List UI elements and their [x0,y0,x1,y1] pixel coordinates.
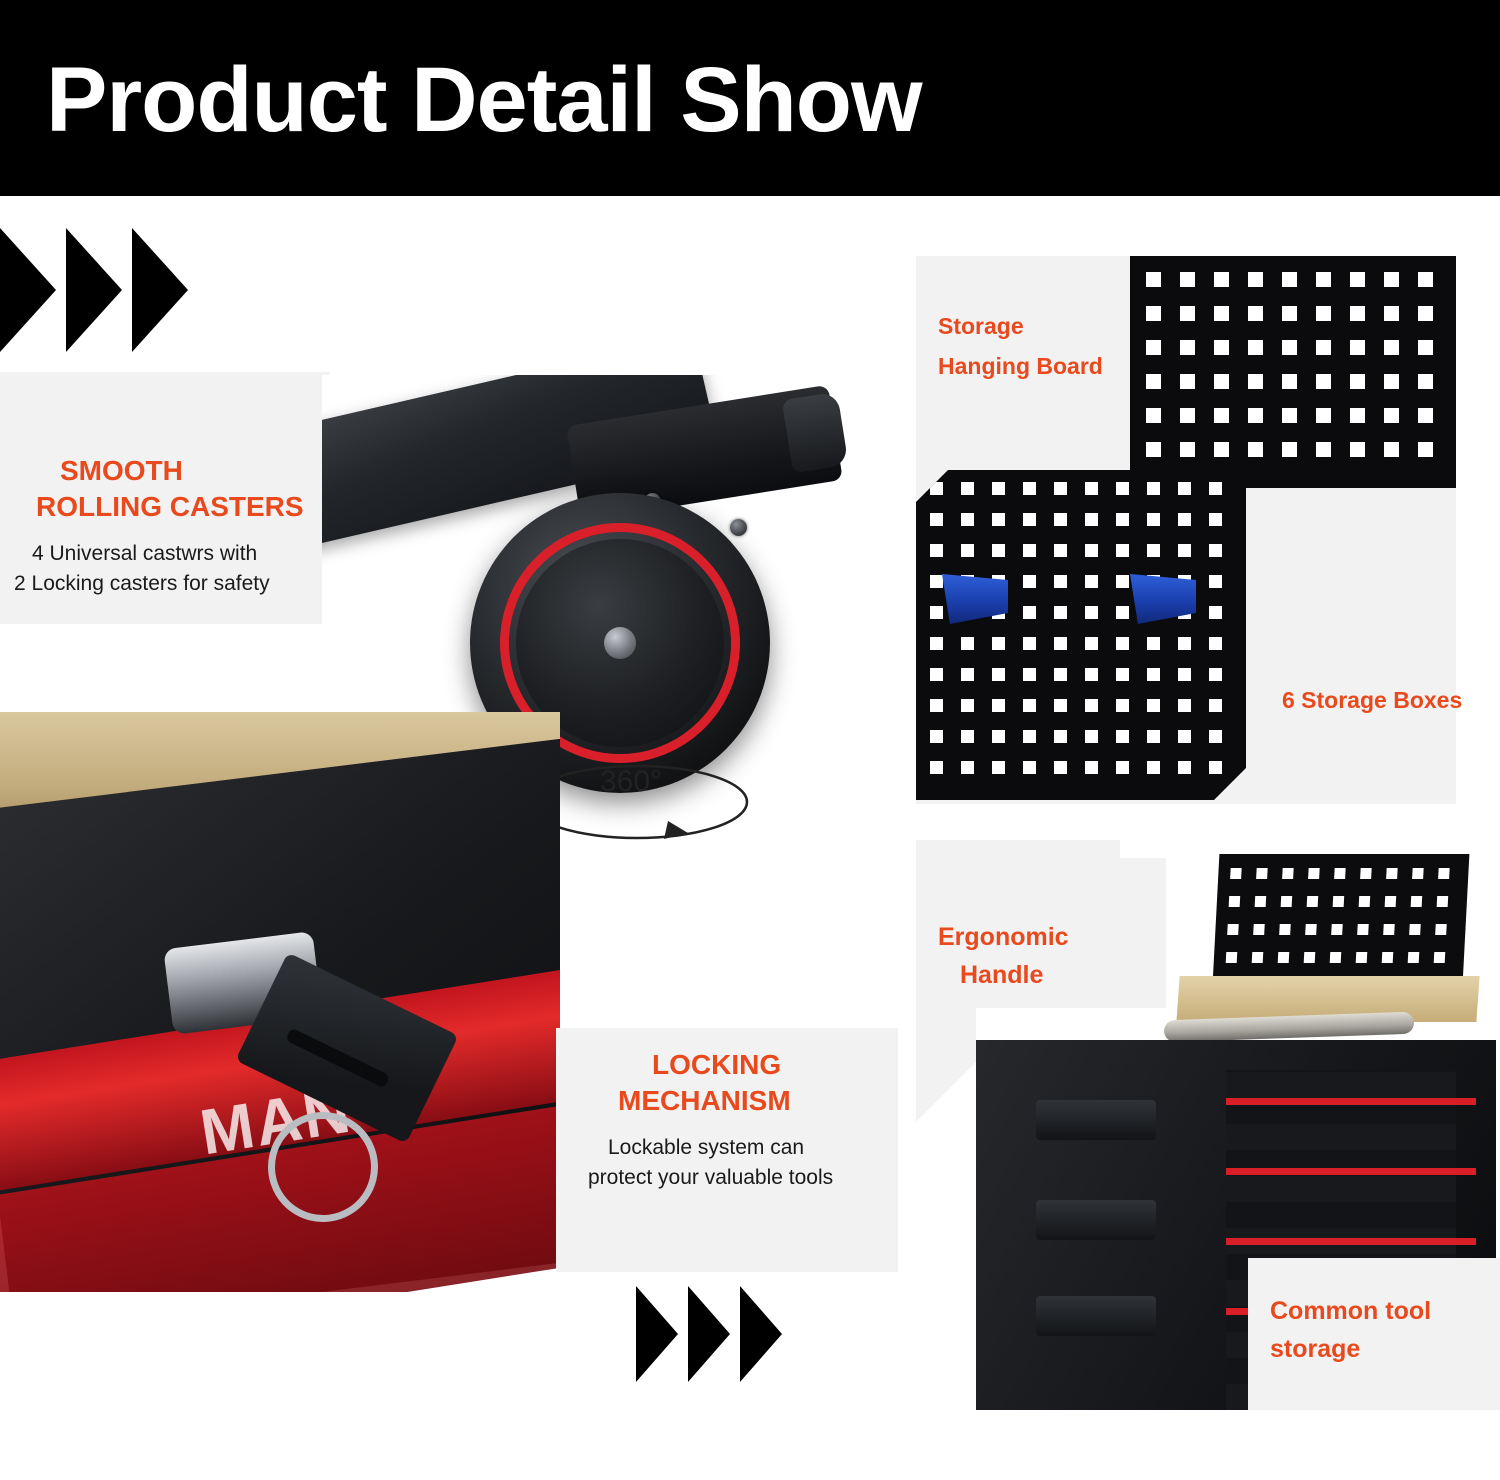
peg-hole [1023,668,1036,681]
peg-hole [1409,924,1421,935]
peg-hole [1256,868,1268,879]
peg-hole [961,699,974,712]
peg-hole [1418,374,1433,389]
peg-hole [1054,668,1067,681]
peg-hole [1384,408,1399,423]
peg-hole [1308,868,1320,879]
peg-hole [1147,637,1160,650]
peg-hole [1248,306,1263,321]
peg-hole [1209,482,1222,495]
peg-hole [1281,896,1293,907]
peg-hole [1178,668,1191,681]
peg-hole [1384,374,1399,389]
peg-hole [1226,952,1238,963]
pegboard-holes [916,470,1246,800]
storage-board-label-line2: Hanging Board [938,352,1103,380]
peg-hole [1282,868,1294,879]
locking-title-line1: LOCKING [652,1048,781,1082]
peg-hole [1316,272,1331,287]
peg-hole [1278,952,1290,963]
peg-hole [1054,513,1067,526]
cart-red-trim [1226,1098,1476,1105]
tool-holder [1036,1100,1156,1140]
peg-hole [930,761,943,774]
chevron-right-icon [66,228,122,352]
peg-hole [1054,544,1067,557]
peg-hole [961,482,974,495]
peg-hole [1438,868,1450,879]
handle-label-line2: Handle [960,960,1043,991]
peg-hole [1146,306,1161,321]
peg-hole [992,637,1005,650]
peg-hole [1248,408,1263,423]
casters-body-line2: 2 Locking casters for safety [14,570,270,598]
peg-hole [1023,730,1036,743]
peg-hole [1180,340,1195,355]
peg-hole [1350,272,1365,287]
peg-hole [1282,374,1297,389]
peg-hole [1282,306,1297,321]
peg-hole [1248,374,1263,389]
peg-hole [1434,952,1446,963]
lock-photo: MAN [0,712,560,1292]
peg-hole [1146,272,1161,287]
peg-hole [930,730,943,743]
peg-hole [1085,513,1098,526]
peg-hole [1350,442,1365,457]
peg-hole [1282,340,1297,355]
peg-hole [1248,340,1263,355]
peg-hole [1412,868,1424,879]
chevron-right-icon [740,1286,782,1382]
peg-hole [1209,668,1222,681]
peg-hole [992,482,1005,495]
peg-hole [1253,924,1265,935]
peg-hole [1023,482,1036,495]
peg-hole [1435,924,1447,935]
peg-hole [1023,513,1036,526]
pegboard-small-photo [1130,256,1456,488]
peg-hole [961,730,974,743]
peg-hole [930,637,943,650]
peg-hole [1360,868,1372,879]
peg-hole [1147,668,1160,681]
peg-hole [992,668,1005,681]
peg-hole [1418,306,1433,321]
peg-hole [1418,340,1433,355]
peg-hole [1316,306,1331,321]
peg-hole [1209,761,1222,774]
peg-hole [1209,730,1222,743]
peg-hole [1116,730,1129,743]
handle-label-line1: Ergonomic [938,922,1069,953]
peg-hole [1282,408,1297,423]
locking-title-line2: MECHANISM [618,1084,791,1118]
peg-hole [1116,606,1129,619]
peg-hole [961,668,974,681]
peg-hole [1331,924,1343,935]
peg-hole [1023,606,1036,619]
peg-hole [1209,699,1222,712]
peg-hole [930,513,943,526]
peg-hole [1147,482,1160,495]
peg-hole [1178,699,1191,712]
peg-hole [1178,513,1191,526]
peg-hole [961,761,974,774]
peg-hole [1350,340,1365,355]
peg-hole [1334,868,1346,879]
cart-red-trim [1226,1168,1476,1175]
peg-hole [1116,761,1129,774]
peg-hole [1146,408,1161,423]
peg-hole [1054,575,1067,588]
storage-boxes-label: 6 Storage Boxes [1282,686,1462,714]
tool-storage-label-panel: Common tool storage [1248,1258,1500,1410]
peg-hole [1386,868,1398,879]
peg-hole [1383,924,1395,935]
wheel-hub [604,627,636,659]
peg-hole [1085,699,1098,712]
peg-hole [930,575,943,588]
peg-hole [1382,952,1394,963]
peg-hole [1085,482,1098,495]
peg-hole [1356,952,1368,963]
peg-hole [1116,575,1129,588]
peg-hole [1054,637,1067,650]
peg-hole [1411,896,1423,907]
peg-hole [1330,952,1342,963]
peg-hole [1147,699,1160,712]
peg-hole [1227,924,1239,935]
peg-hole [930,668,943,681]
peg-hole [1255,896,1267,907]
peg-hole [1305,924,1317,935]
peg-hole [1357,924,1369,935]
peg-hole [1054,482,1067,495]
peg-hole [1230,868,1242,879]
peg-hole [1252,952,1264,963]
peg-hole [1384,340,1399,355]
peg-hole [1116,668,1129,681]
pegboard-holes [1213,854,1470,984]
peg-hole [1180,442,1195,457]
peg-hole [1316,340,1331,355]
rotation-degrees-label: 360° [600,765,662,799]
handle-label-panel: Ergonomic Handle [916,858,1166,1008]
peg-hole [1209,544,1222,557]
peg-hole [1023,544,1036,557]
locking-body-line2: protect your valuable tools [588,1164,833,1192]
cart-pegboard [1213,854,1470,984]
peg-hole [1214,374,1229,389]
peg-hole [1248,442,1263,457]
tool-storage-label-line1: Common tool [1270,1296,1431,1327]
peg-hole [1023,761,1036,774]
peg-hole [1085,761,1098,774]
locking-body-line1: Lockable system can [608,1134,804,1162]
peg-hole [1178,761,1191,774]
peg-hole [1437,896,1449,907]
peg-hole [1116,637,1129,650]
peg-hole [1316,408,1331,423]
peg-hole [1085,730,1098,743]
casters-body-line1: 4 Universal castwrs with [32,540,257,568]
peg-hole [1209,575,1222,588]
peg-hole [1384,306,1399,321]
peg-hole [1209,606,1222,619]
peg-hole [1180,272,1195,287]
peg-hole [992,730,1005,743]
peg-hole [1408,952,1420,963]
peg-hole [1085,575,1098,588]
pegboard-holes [1130,256,1456,488]
peg-hole [1147,730,1160,743]
peg-hole [992,699,1005,712]
peg-hole [1146,340,1161,355]
peg-hole [1178,730,1191,743]
peg-hole [1385,896,1397,907]
tool-holder [1036,1296,1156,1336]
chevron-right-icon [0,228,56,352]
casters-title-line2: ROLLING CASTERS [36,490,304,524]
peg-hole [1054,606,1067,619]
storage-board-label-line1: Storage [938,312,1024,340]
peg-hole [1178,637,1191,650]
peg-hole [1333,896,1345,907]
bolt-icon [730,519,747,536]
casters-caption-panel: SMOOTH ROLLING CASTERS 4 Universal castw… [0,372,330,624]
peg-hole [1418,408,1433,423]
peg-hole [1214,306,1229,321]
peg-hole [1384,272,1399,287]
peg-hole [1209,637,1222,650]
peg-hole [1116,513,1129,526]
tool-holder [1036,1200,1156,1240]
casters-title-line1: SMOOTH [60,454,183,488]
peg-hole [1054,730,1067,743]
peg-hole [1209,513,1222,526]
key-groove [285,1028,390,1089]
peg-hole [1116,544,1129,557]
peg-hole [1282,272,1297,287]
peg-hole [1214,272,1229,287]
peg-hole [1116,482,1129,495]
peg-hole [1180,408,1195,423]
chevron-right-icon [688,1286,730,1382]
peg-hole [1147,544,1160,557]
peg-hole [930,544,943,557]
peg-hole [1085,544,1098,557]
peg-hole [1023,637,1036,650]
chevron-right-icon [636,1286,678,1382]
peg-hole [992,544,1005,557]
peg-hole [1116,699,1129,712]
peg-hole [992,761,1005,774]
locking-caption-panel: LOCKING MECHANISM Lockable system can pr… [556,1028,898,1272]
peg-hole [1180,374,1195,389]
peg-hole [1350,306,1365,321]
peg-hole [992,513,1005,526]
peg-hole [930,699,943,712]
peg-hole [1418,272,1433,287]
peg-hole [1214,340,1229,355]
peg-hole [930,606,943,619]
peg-hole [1054,699,1067,712]
peg-hole [1418,442,1433,457]
peg-hole [1023,699,1036,712]
peg-hole [1214,408,1229,423]
peg-hole [1229,896,1241,907]
peg-hole [1282,442,1297,457]
peg-hole [1054,761,1067,774]
tool-storage-label-line2: storage [1270,1334,1360,1365]
peg-hole [961,544,974,557]
peg-hole [1307,896,1319,907]
peg-hole [1248,272,1263,287]
peg-hole [1023,575,1036,588]
peg-hole [1085,606,1098,619]
peg-hole [961,513,974,526]
peg-hole [1178,482,1191,495]
peg-hole [1316,442,1331,457]
cart-red-trim [1226,1238,1476,1245]
peg-hole [1359,896,1371,907]
peg-hole [1147,761,1160,774]
peg-hole [1350,374,1365,389]
pegboard-large-photo [916,470,1246,800]
peg-hole [1146,442,1161,457]
peg-hole [1279,924,1291,935]
peg-hole [1178,544,1191,557]
peg-hole [961,637,974,650]
peg-hole [1085,668,1098,681]
peg-hole [1085,637,1098,650]
chevron-right-icon [132,228,188,352]
peg-hole [1147,513,1160,526]
peg-hole [1146,374,1161,389]
peg-hole [1304,952,1316,963]
peg-hole [1316,374,1331,389]
page-title: Product Detail Show [46,54,922,146]
peg-hole [1180,306,1195,321]
peg-hole [1384,442,1399,457]
peg-hole [1350,408,1365,423]
peg-hole [1214,442,1229,457]
